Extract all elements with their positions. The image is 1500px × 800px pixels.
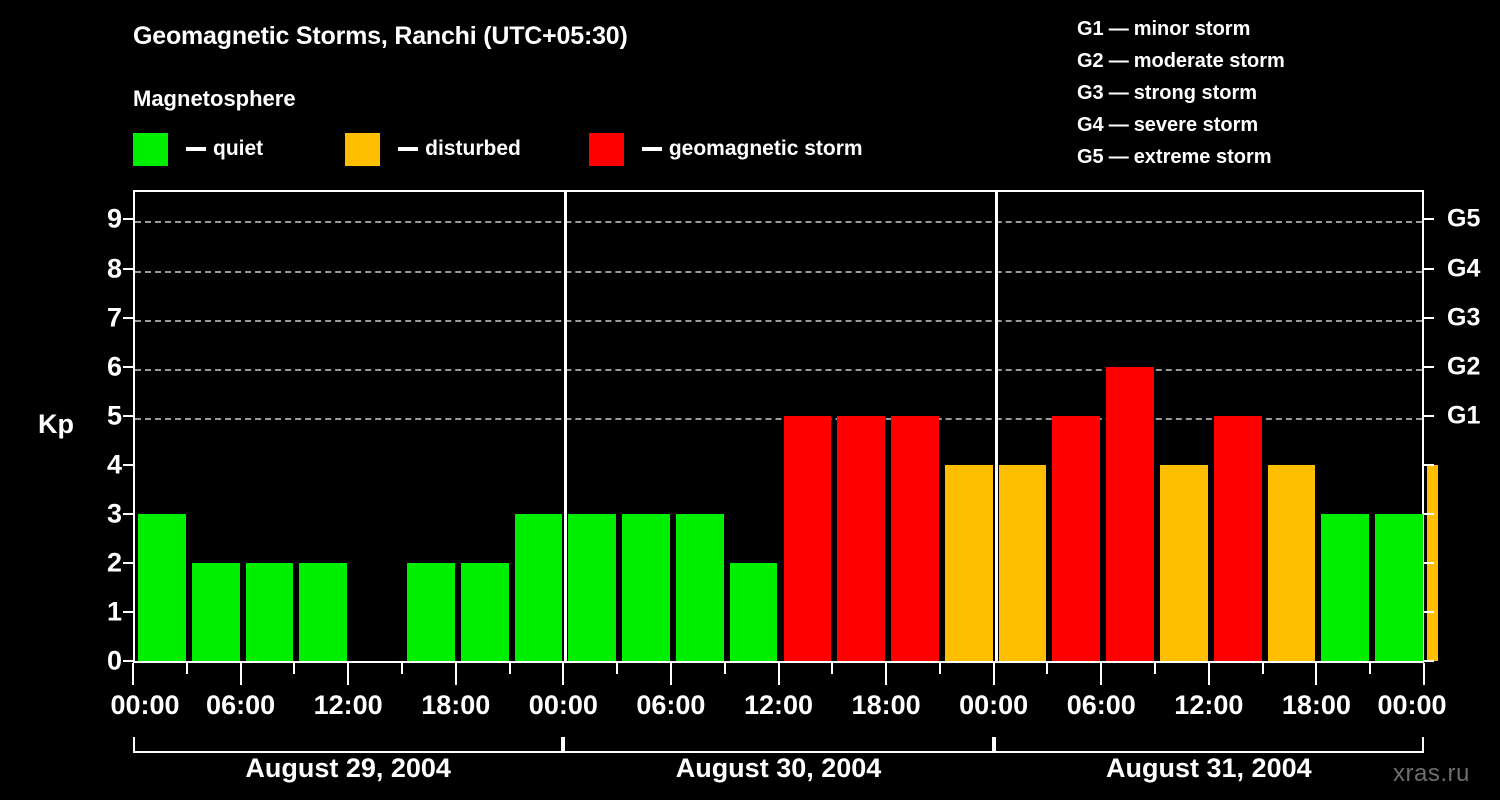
storm-swatch xyxy=(589,133,624,166)
bar xyxy=(1160,465,1208,661)
gridline-kp-9 xyxy=(135,221,1422,223)
bar xyxy=(891,416,939,661)
y-tick-mark xyxy=(123,415,134,417)
day-separator xyxy=(564,192,567,661)
g-legend-row-g1: G1—minor storm xyxy=(1077,13,1285,45)
date-label: August 31, 2004 xyxy=(1106,753,1312,784)
date-bracket xyxy=(133,737,563,753)
bar xyxy=(515,514,563,661)
y-tick-mark xyxy=(123,660,134,662)
disturbed-swatch xyxy=(345,133,380,166)
y-tick-mark xyxy=(123,317,134,319)
bar xyxy=(1052,416,1100,661)
bar xyxy=(407,563,455,661)
x-tick-major xyxy=(562,663,564,685)
date-label: August 30, 2004 xyxy=(676,753,882,784)
g-legend-dash-icon: — xyxy=(1104,146,1134,169)
y-tick-label: 5 xyxy=(82,400,122,431)
bar xyxy=(568,514,616,661)
color-legend: quietdisturbedgeomagnetic storm xyxy=(133,132,863,166)
gridline-kp-8 xyxy=(135,271,1422,273)
g-legend-description: severe storm xyxy=(1134,114,1259,137)
g-legend-dash-icon: — xyxy=(1104,114,1134,137)
x-tick-label: 06:00 xyxy=(636,690,705,721)
x-tick-label: 00:00 xyxy=(529,690,598,721)
bar xyxy=(1106,367,1154,661)
gridline-kp-7 xyxy=(135,320,1422,322)
g-legend-row-g5: G5—extreme storm xyxy=(1077,141,1285,173)
magnetosphere-label: Magnetosphere xyxy=(133,86,296,112)
y-tick-mark xyxy=(123,611,134,613)
x-tick-major xyxy=(132,663,134,685)
x-tick-major xyxy=(1208,663,1210,685)
page-title: Geomagnetic Storms, Ranchi (UTC+05:30) xyxy=(133,22,628,51)
x-tick-label: 00:00 xyxy=(959,690,1028,721)
x-tick-minor xyxy=(724,663,726,674)
g-axis-label: G3 xyxy=(1447,303,1480,332)
g-legend-dash-icon: — xyxy=(1104,18,1134,41)
x-tick-minor xyxy=(1369,663,1371,674)
legend-item-label: geomagnetic storm xyxy=(669,137,863,161)
x-tick-major xyxy=(885,663,887,685)
date-bracket xyxy=(994,737,1424,753)
g-axis-label: G1 xyxy=(1447,401,1480,430)
x-tick-label: 18:00 xyxy=(1282,690,1351,721)
bar xyxy=(246,563,294,661)
bar xyxy=(784,416,832,661)
y-tick-label: 0 xyxy=(82,646,122,677)
legend-item-disturbed: disturbed xyxy=(345,133,521,166)
bar xyxy=(837,416,885,661)
x-tick-minor xyxy=(186,663,188,674)
y-tick-label: 8 xyxy=(82,253,122,284)
y-tick-mark xyxy=(123,268,134,270)
y-tick-mark xyxy=(123,513,134,515)
right-axis-tick-mark xyxy=(1423,513,1434,515)
bar xyxy=(299,563,347,661)
g-legend-row-g2: G2—moderate storm xyxy=(1077,45,1285,77)
g-legend-row-g3: G3—strong storm xyxy=(1077,77,1285,109)
x-tick-label: 06:00 xyxy=(1067,690,1136,721)
plot-area xyxy=(133,190,1424,661)
x-tick-minor xyxy=(293,663,295,674)
y-tick-mark xyxy=(123,562,134,564)
y-tick-mark xyxy=(123,464,134,466)
right-axis-tick-mark xyxy=(1423,366,1434,368)
date-label: August 29, 2004 xyxy=(245,753,451,784)
x-tick-major xyxy=(1100,663,1102,685)
g-legend-description: strong storm xyxy=(1134,82,1257,105)
bar xyxy=(1214,416,1262,661)
g-legend-description: extreme storm xyxy=(1134,146,1272,169)
bar xyxy=(999,465,1047,661)
y-tick-label: 7 xyxy=(82,302,122,333)
legend-item-geomagnetic-storm: geomagnetic storm xyxy=(589,133,863,166)
day-separator xyxy=(995,192,998,661)
bar xyxy=(1321,514,1369,661)
g-legend-code: G5 xyxy=(1077,146,1104,169)
legend-item-label: quiet xyxy=(213,137,263,161)
g-axis-label: G5 xyxy=(1447,205,1480,234)
x-tick-major xyxy=(347,663,349,685)
g-legend-dash-icon: — xyxy=(1104,50,1134,73)
bar xyxy=(1375,514,1423,661)
x-tick-minor xyxy=(401,663,403,674)
x-tick-label: 00:00 xyxy=(110,690,179,721)
g-legend-code: G1 xyxy=(1077,18,1104,41)
bar xyxy=(676,514,724,661)
y-tick-label: 9 xyxy=(82,204,122,235)
x-tick-label: 18:00 xyxy=(852,690,921,721)
bar xyxy=(730,563,778,661)
y-tick-label: 2 xyxy=(82,547,122,578)
g-axis-label: G4 xyxy=(1447,254,1480,283)
legend-item-label: disturbed xyxy=(425,137,521,161)
x-tick-label: 12:00 xyxy=(1174,690,1243,721)
x-tick-major xyxy=(993,663,995,685)
quiet-swatch xyxy=(133,133,168,166)
x-tick-minor xyxy=(616,663,618,674)
x-tick-major xyxy=(1423,663,1425,685)
x-tick-major xyxy=(240,663,242,685)
x-tick-major xyxy=(455,663,457,685)
legend-dash-icon xyxy=(642,147,662,151)
legend-dash-icon xyxy=(398,147,418,151)
right-axis-tick-mark xyxy=(1423,218,1434,220)
y-tick-label: 4 xyxy=(82,449,122,480)
right-axis-tick-mark xyxy=(1423,268,1434,270)
right-axis-tick-mark xyxy=(1423,317,1434,319)
y-tick-label: 1 xyxy=(82,596,122,627)
right-axis-tick-mark xyxy=(1423,415,1434,417)
x-tick-label: 00:00 xyxy=(1377,690,1446,721)
x-tick-minor xyxy=(509,663,511,674)
x-tick-minor xyxy=(1154,663,1156,674)
x-tick-label: 18:00 xyxy=(421,690,490,721)
x-tick-minor xyxy=(939,663,941,674)
g-scale-legend: G1—minor stormG2—moderate stormG3—strong… xyxy=(1077,13,1285,173)
bar xyxy=(192,563,240,661)
g-legend-row-g4: G4—severe storm xyxy=(1077,109,1285,141)
gridline-kp-6 xyxy=(135,369,1422,371)
legend-dash-icon xyxy=(186,147,206,151)
g-axis-label: G2 xyxy=(1447,352,1480,381)
legend-item-quiet: quiet xyxy=(133,133,263,166)
right-axis-tick-mark xyxy=(1423,660,1434,662)
x-tick-major xyxy=(1315,663,1317,685)
g-legend-code: G2 xyxy=(1077,50,1104,73)
watermark: xras.ru xyxy=(1393,760,1470,788)
bar xyxy=(622,514,670,661)
y-tick-label: 6 xyxy=(82,351,122,382)
x-tick-minor xyxy=(831,663,833,674)
x-tick-major xyxy=(670,663,672,685)
x-tick-label: 06:00 xyxy=(206,690,275,721)
x-tick-label: 12:00 xyxy=(314,690,383,721)
bar xyxy=(945,465,993,661)
y-tick-mark xyxy=(123,218,134,220)
y-tick-label: 3 xyxy=(82,498,122,529)
g-legend-description: minor storm xyxy=(1134,18,1251,41)
g-legend-code: G4 xyxy=(1077,114,1104,137)
x-tick-minor xyxy=(1262,663,1264,674)
y-axis-title: Kp xyxy=(38,409,74,440)
g-legend-description: moderate storm xyxy=(1134,50,1285,73)
x-tick-major xyxy=(778,663,780,685)
bar xyxy=(1268,465,1316,661)
right-axis-tick-mark xyxy=(1423,562,1434,564)
g-legend-code: G3 xyxy=(1077,82,1104,105)
bar xyxy=(138,514,186,661)
right-axis-tick-mark xyxy=(1423,611,1434,613)
x-tick-label: 12:00 xyxy=(744,690,813,721)
x-tick-minor xyxy=(1046,663,1048,674)
date-bracket xyxy=(563,737,993,753)
y-tick-mark xyxy=(123,366,134,368)
bar xyxy=(461,563,509,661)
right-axis-tick-mark xyxy=(1423,464,1434,466)
g-legend-dash-icon: — xyxy=(1104,82,1134,105)
